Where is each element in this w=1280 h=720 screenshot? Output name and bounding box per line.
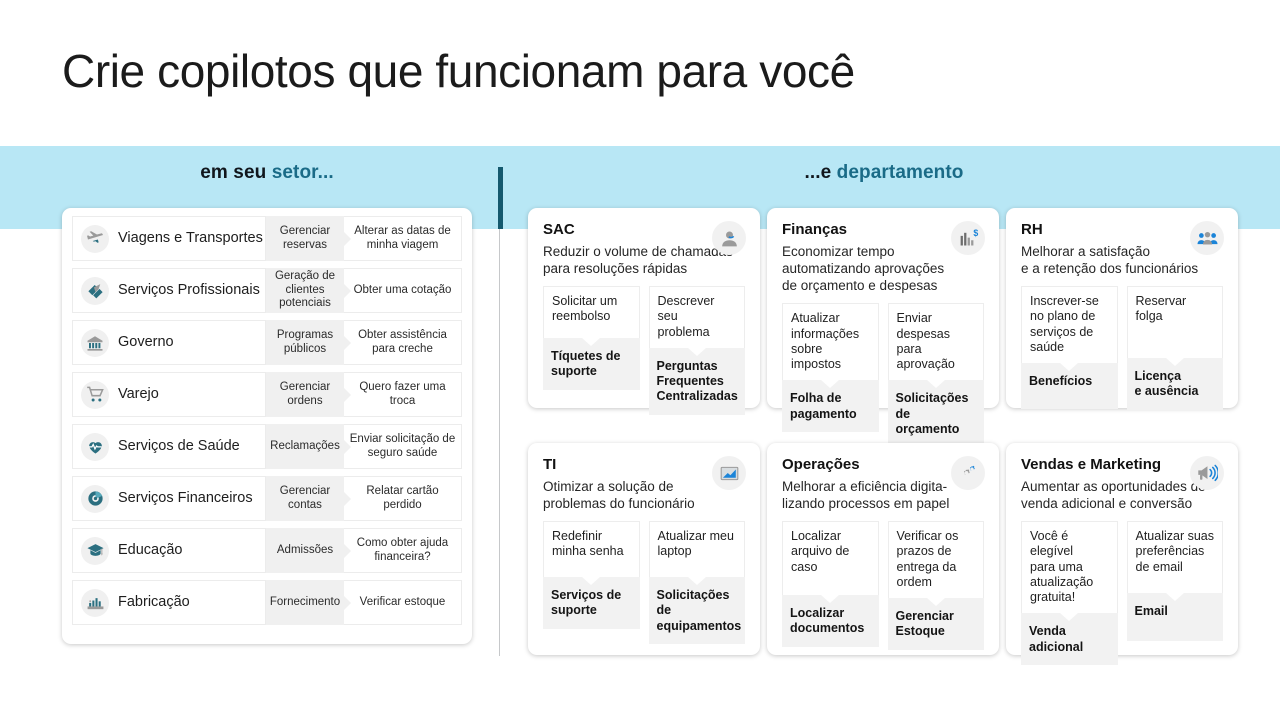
bar-chart-dollar-icon-wrap: $ [951,221,985,255]
department-item-label[interactable]: Email [1127,593,1224,641]
industry-topic[interactable]: Reclamações [266,424,344,469]
industry-topic[interactable]: Gerenciar reservas [266,216,344,261]
industry-name-cell[interactable]: Serviços de Saúde [72,424,266,469]
department-items: Solicitar um reembolsoTíquetes de suport… [543,286,745,415]
department-item-label[interactable]: Localizar documentos [782,595,879,647]
industry-label: Educação [118,542,183,559]
department-item-task[interactable]: Atualizar suas preferências de email [1127,521,1224,593]
svg-text:$: $ [973,228,978,238]
briefcase-icon [81,277,109,305]
industry-topic[interactable]: Gerenciar contas [266,476,344,521]
industry-row[interactable]: Serviços ProfissionaisGeração de cliente… [72,268,462,313]
people-group-icon-wrap [1190,221,1224,255]
department-item-task[interactable]: Descrever seu problema [649,286,746,348]
department-card-ti[interactable]: TIOtimizar a solução de problemas do fun… [528,443,760,655]
department-card-ops[interactable]: OperaçõesMelhorar a eficiência digita- l… [767,443,999,655]
department-item-task[interactable]: Atualizar informações sobre impostos [782,303,879,380]
industry-label: Serviços de Saúde [118,438,240,455]
airplane-icon [81,225,109,253]
band-heading-industry-teal: setor... [272,162,334,183]
department-subtitle: Economizar tempo automatizando aprovaçõe… [782,243,984,295]
department-item-label[interactable]: Solicitações de equipamentos [649,577,746,644]
department-item-task[interactable]: Reservar folga [1127,286,1224,358]
industry-row[interactable]: FabricaçãoFornecimentoVerificar estoque [72,580,462,625]
department-item[interactable]: Reservar folgaLicença e ausência [1127,286,1224,410]
headset-person-icon-wrap [712,221,746,255]
industry-name-cell[interactable]: Varejo [72,372,266,417]
industry-task[interactable]: Relatar cartão perdido [344,476,462,521]
department-item-task[interactable]: Solicitar um reembolso [543,286,640,338]
department-item-label[interactable]: Perguntas Frequentes Centralizadas [649,348,746,415]
department-item[interactable]: Redefinir minha senhaServiços de suporte [543,521,640,644]
department-item-task[interactable]: Redefinir minha senha [543,521,640,577]
line-chart-icon-wrap [712,456,746,490]
industry-label: Varejo [118,386,159,403]
department-item[interactable]: Localizar arquivo de casoLocalizar docum… [782,521,879,650]
industry-topic[interactable]: Geração de clientes potenciais [266,268,344,313]
industry-task[interactable]: Verificar estoque [344,580,462,625]
department-item-label[interactable]: Benefícios [1021,363,1118,409]
industry-row[interactable]: VarejoGerenciar ordensQuero fazer uma tr… [72,372,462,417]
industry-name-cell[interactable]: Viagens e Transportes [72,216,266,261]
section-divider-accent [498,167,503,229]
factory-icon [81,589,109,617]
department-card-fin[interactable]: $FinançasEconomizar tempo automatizando … [767,208,999,408]
industry-topic[interactable]: Fornecimento [266,580,344,625]
department-item[interactable]: Solicitar um reembolsoTíquetes de suport… [543,286,640,415]
department-item-task[interactable]: Verificar os prazos de entrega da ordem [888,521,985,598]
band-heading-department: ...e departamento [528,163,1240,182]
megaphone-icon-wrap [1190,456,1224,490]
department-item-task[interactable]: Enviar despesas para aprovação [888,303,985,380]
department-item-label[interactable]: Solicitações de orçamento [888,380,985,447]
industry-panel: Viagens e TransportesGerenciar reservasA… [62,208,472,644]
industry-name-cell[interactable]: Educação [72,528,266,573]
department-item[interactable]: Enviar despesas para aprovaçãoSolicitaçõ… [888,303,985,447]
industry-task[interactable]: Obter assistência para creche [344,320,462,365]
department-item[interactable]: Verificar os prazos de entrega da ordemG… [888,521,985,650]
department-item-label[interactable]: Licença e ausência [1127,358,1224,410]
page-title: Crie copilotos que funcionam para você [62,46,1162,98]
department-items: Redefinir minha senhaServiços de suporte… [543,521,745,644]
department-card-rh[interactable]: RHMelhorar a satisfação e a retenção dos… [1006,208,1238,408]
department-item[interactable]: Atualizar informações sobre impostosFolh… [782,303,879,447]
donut-chart-icon [81,485,109,513]
industry-topic[interactable]: Admissões [266,528,344,573]
industry-task[interactable]: Enviar solicitação de seguro saúde [344,424,462,469]
industry-row[interactable]: EducaçãoAdmissõesComo obter ajuda financ… [72,528,462,573]
industry-task[interactable]: Alterar as datas de minha viagem [344,216,462,261]
heartbeat-icon [81,433,109,461]
industry-label: Serviços Profissionais [118,282,260,299]
department-item-task[interactable]: Localizar arquivo de caso [782,521,879,595]
department-item[interactable]: Atualizar meu laptopSolicitações de equi… [649,521,746,644]
industry-label: Fabricação [118,594,190,611]
industry-row[interactable]: Viagens e TransportesGerenciar reservasA… [72,216,462,261]
department-items: Você é elegível para uma atualização gra… [1021,521,1223,665]
industry-task[interactable]: Obter uma cotação [344,268,462,313]
band-heading-department-dark: ...e [804,162,836,183]
graduation-cap-icon [81,537,109,565]
industry-topic[interactable]: Gerenciar ordens [266,372,344,417]
department-item-label[interactable]: Gerenciar Estoque [888,598,985,650]
department-item[interactable]: Inscrever-se no plano de serviços de saú… [1021,286,1118,410]
department-item-label[interactable]: Tíquetes de suporte [543,338,640,390]
department-item[interactable]: Você é elegível para uma atualização gra… [1021,521,1118,665]
shopping-cart-icon [81,381,109,409]
department-item[interactable]: Descrever seu problemaPerguntas Frequent… [649,286,746,415]
industry-label: Serviços Financeiros [118,490,253,507]
department-card-sac[interactable]: SACReduzir o volume de chamadas para res… [528,208,760,408]
gears-icon-wrap [951,456,985,490]
department-item-task[interactable]: Você é elegível para uma atualização gra… [1021,521,1118,613]
department-items: Atualizar informações sobre impostosFolh… [782,303,984,447]
band-heading-industry: em seu setor... [62,163,472,182]
department-card-vnd[interactable]: Vendas e MarketingAumentar as oportunida… [1006,443,1238,655]
bank-icon [81,329,109,357]
band-heading-department-teal: departamento [837,162,964,183]
department-item-label[interactable]: Serviços de suporte [543,577,640,629]
industry-name-cell[interactable]: Fabricação [72,580,266,625]
slide-root: Crie copilotos que funcionam para você e… [0,0,1280,720]
band-heading-industry-dark: em seu [200,162,271,183]
industry-row[interactable]: Serviços de SaúdeReclamaçõesEnviar solic… [72,424,462,469]
industry-name-cell[interactable]: Serviços Financeiros [72,476,266,521]
department-item-task[interactable]: Inscrever-se no plano de serviços de saú… [1021,286,1118,363]
industry-row[interactable]: Serviços FinanceirosGerenciar contasRela… [72,476,462,521]
industry-task[interactable]: Como obter ajuda financeira? [344,528,462,573]
department-item-task[interactable]: Atualizar meu laptop [649,521,746,577]
department-items: Localizar arquivo de casoLocalizar docum… [782,521,984,650]
industry-name-cell[interactable]: Governo [72,320,266,365]
industry-label: Governo [118,334,174,351]
department-items: Inscrever-se no plano de serviços de saú… [1021,286,1223,410]
department-item-label[interactable]: Venda adicional [1021,613,1118,665]
industry-topic[interactable]: Programas públicos [266,320,344,365]
industry-name-cell[interactable]: Serviços Profissionais [72,268,266,313]
section-divider-line [499,229,500,656]
department-item-label[interactable]: Folha de pagamento [782,380,879,432]
industry-row[interactable]: GovernoProgramas públicosObter assistênc… [72,320,462,365]
industry-label: Viagens e Transportes [118,230,263,247]
department-item[interactable]: Atualizar suas preferências de emailEmai… [1127,521,1224,665]
industry-task[interactable]: Quero fazer uma troca [344,372,462,417]
